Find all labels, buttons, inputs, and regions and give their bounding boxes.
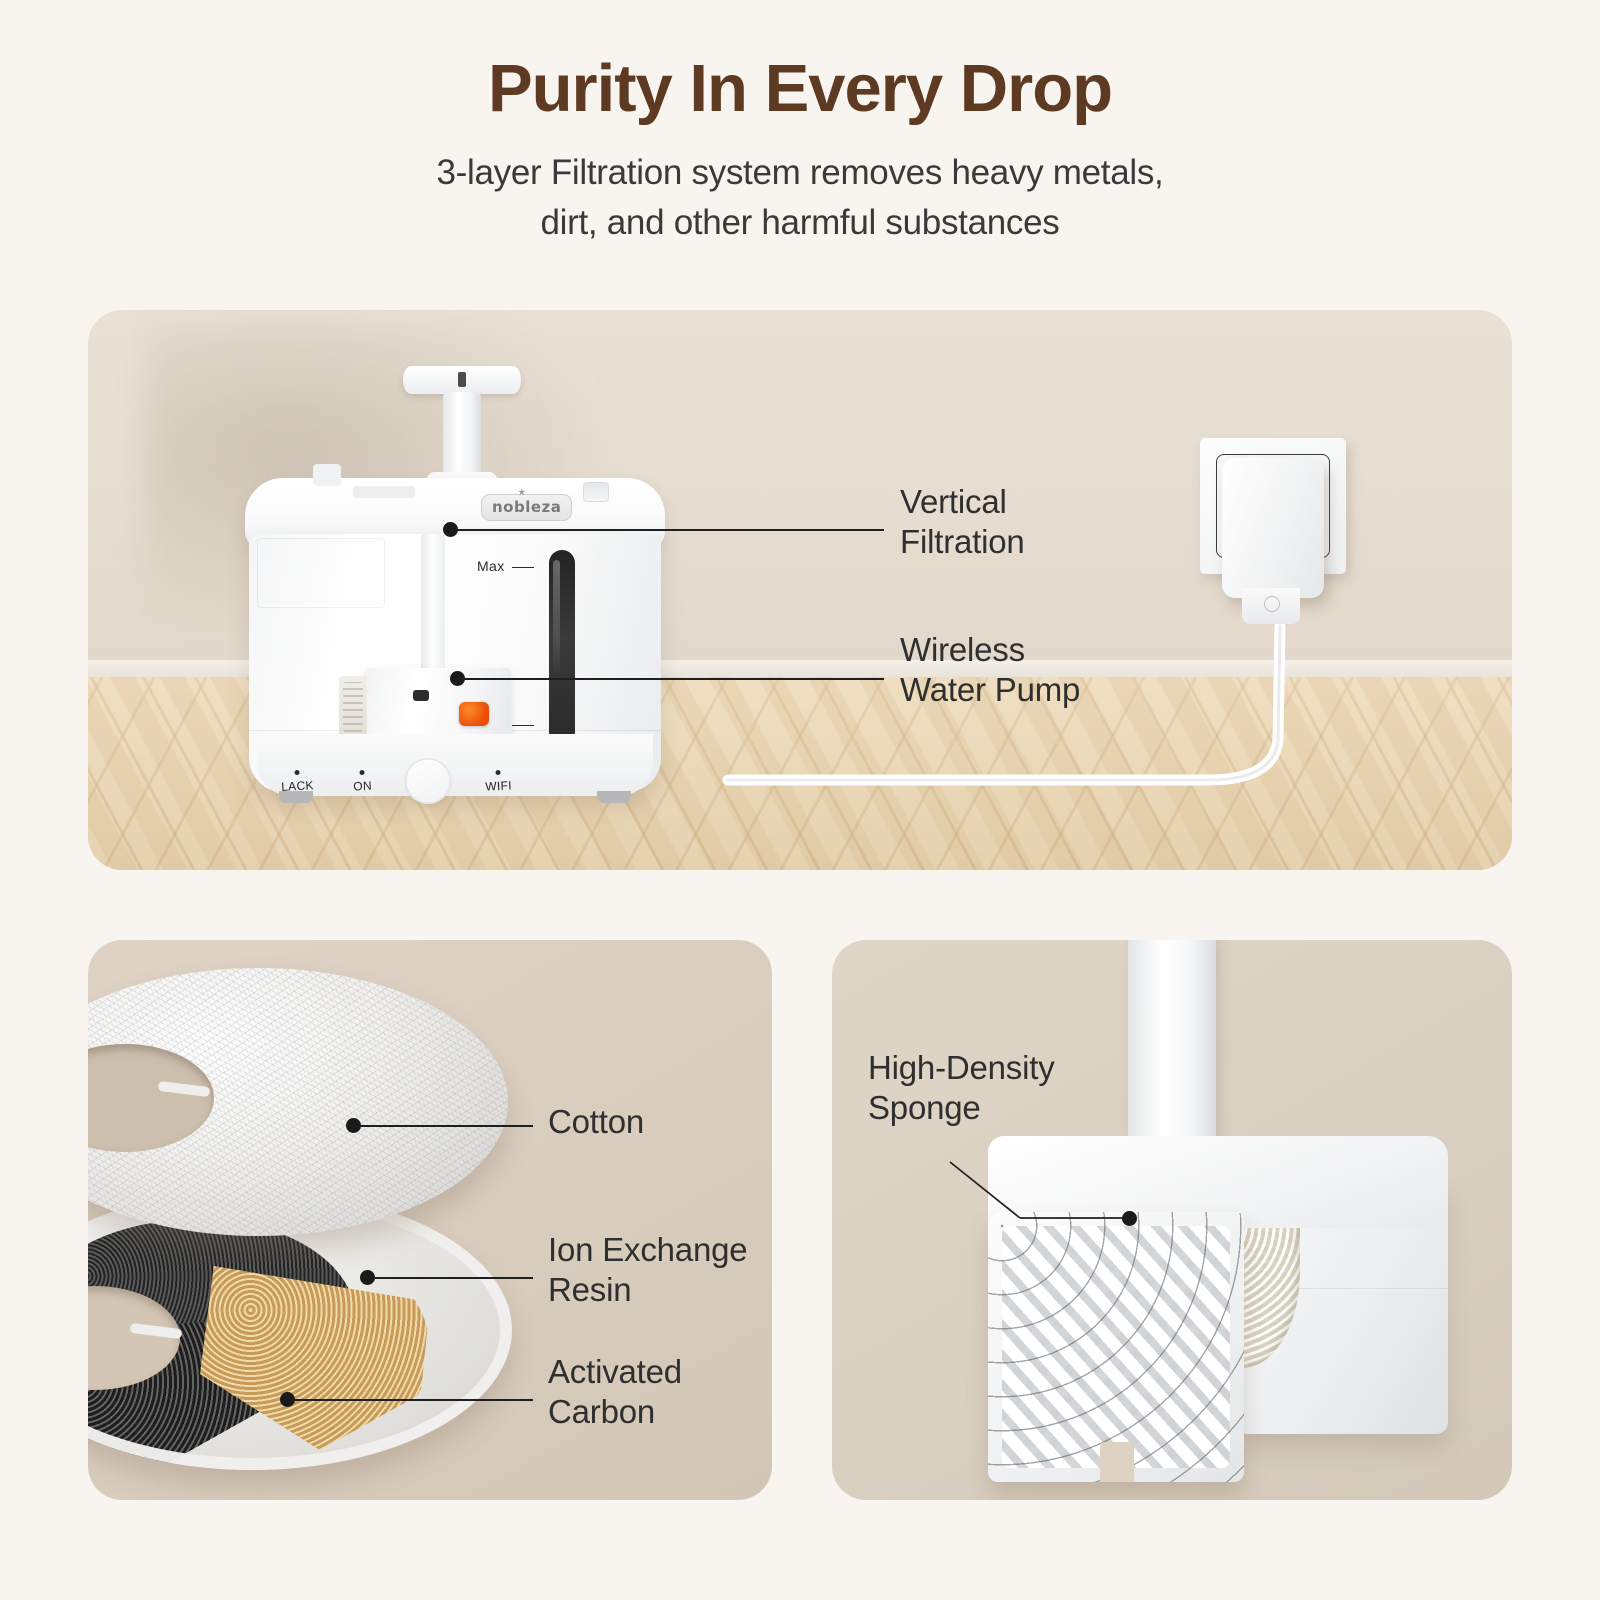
page-subtitle-line-2: dirt, and other harmful substances bbox=[0, 198, 1600, 249]
max-level-label: Max bbox=[477, 558, 534, 574]
fountain-spout-cap bbox=[403, 366, 521, 394]
wifi-indicator-dot bbox=[495, 770, 500, 775]
brand-logo-text: nobleza bbox=[492, 498, 561, 516]
usb-power-adapter bbox=[1222, 458, 1324, 598]
page-subtitle-line-1: 3-layer Filtration system removes heavy … bbox=[0, 148, 1600, 199]
water-level-window bbox=[549, 550, 575, 745]
tank-handle-tab bbox=[313, 464, 341, 486]
fountain-base bbox=[257, 734, 653, 796]
cotton-filter-disc bbox=[88, 968, 508, 1236]
callout-dot-high-density-sponge bbox=[1122, 1211, 1137, 1226]
fountain-spout-neck bbox=[443, 392, 481, 480]
tank-edge bbox=[257, 538, 385, 608]
water-fountain-product: ★ nobleza Max Min bbox=[223, 366, 693, 786]
filter-layers-panel: Cotton Ion Exchange Resin Activated Carb… bbox=[88, 940, 772, 1500]
callout-label-cotton: Cotton bbox=[548, 1102, 644, 1142]
pump-indicator-led bbox=[459, 702, 489, 726]
max-level-dash bbox=[512, 567, 534, 569]
cotton-disc-hole bbox=[88, 1044, 214, 1152]
callout-line-cotton bbox=[359, 1125, 533, 1127]
page-title: Purity In Every Drop bbox=[0, 52, 1600, 126]
page-header: Purity In Every Drop 3-layer Filtration … bbox=[0, 0, 1600, 249]
window-gloss bbox=[553, 560, 560, 680]
callout-label-activated-carbon: Activated Carbon bbox=[548, 1352, 682, 1433]
power-button[interactable] bbox=[405, 758, 451, 804]
brand-logo: ★ nobleza bbox=[481, 494, 572, 521]
control-label-lack: LACK bbox=[280, 769, 314, 794]
callout-line-activated-carbon bbox=[293, 1399, 533, 1401]
fountain-foot-right bbox=[597, 791, 631, 803]
main-product-panel: ★ nobleza Max Min bbox=[88, 310, 1512, 870]
callout-label-vertical-filtration: Vertical Filtration bbox=[900, 482, 1025, 563]
adapter-usb-port bbox=[1242, 588, 1300, 624]
callout-line-vertical-filtration bbox=[456, 529, 884, 531]
on-indicator-dot bbox=[359, 770, 364, 775]
housing-bottom-notch bbox=[1100, 1442, 1134, 1482]
crown-icon: ★ bbox=[518, 488, 527, 498]
lid-notch bbox=[583, 482, 609, 502]
pump-housing-front-grille bbox=[988, 1212, 1244, 1482]
filter-riser-tube bbox=[421, 534, 445, 684]
pump-port bbox=[413, 690, 429, 701]
lack-indicator-dot bbox=[294, 770, 299, 775]
min-level-dash bbox=[512, 725, 534, 727]
control-label-on: ON bbox=[352, 770, 372, 794]
callout-line-ion-exchange-resin bbox=[373, 1277, 533, 1279]
callout-line-wireless-water-pump bbox=[463, 678, 884, 680]
callout-label-wireless-water-pump: Wireless Water Pump bbox=[900, 630, 1080, 711]
pump-sponge-side bbox=[339, 676, 367, 738]
lid-slot bbox=[353, 486, 415, 498]
callout-label-high-density-sponge: High-Density Sponge bbox=[868, 1048, 1055, 1129]
page-subtitle: 3-layer Filtration system removes heavy … bbox=[0, 148, 1600, 250]
control-label-wifi: WIFI bbox=[484, 769, 512, 793]
sponge-panel: High-Density Sponge bbox=[832, 940, 1512, 1500]
callout-label-ion-exchange-resin: Ion Exchange Resin bbox=[548, 1230, 747, 1311]
